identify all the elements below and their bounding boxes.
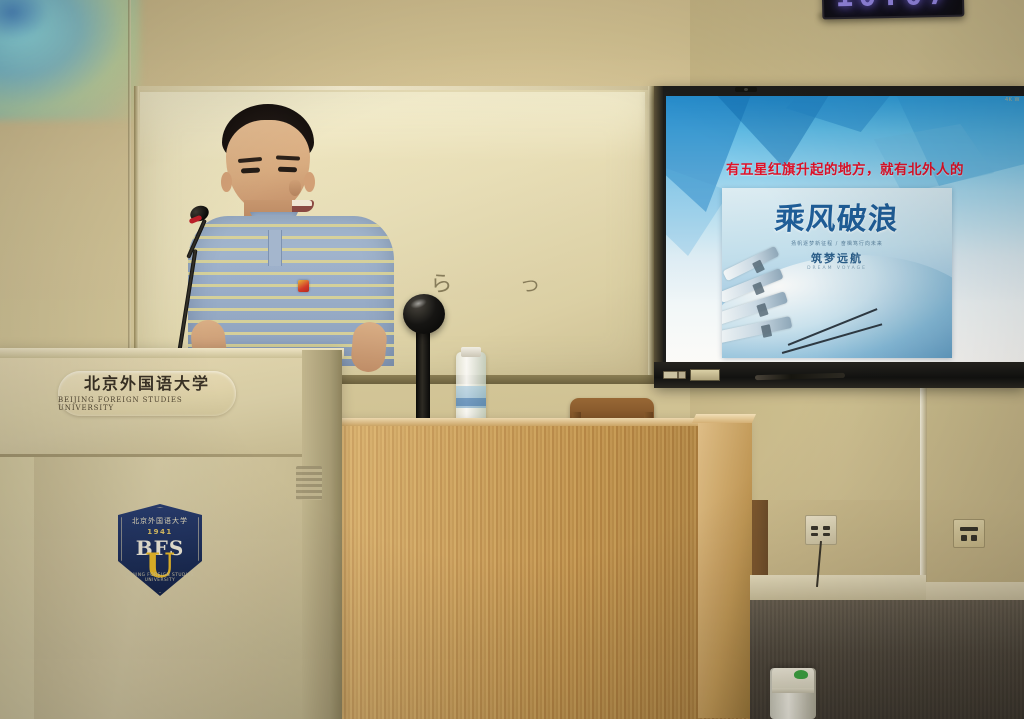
clock-time: 10:07 bbox=[824, 0, 963, 14]
poster-subtitle-en: DREAM VOYAGE bbox=[722, 266, 952, 271]
desk-side-panel bbox=[698, 418, 752, 718]
lapel-pin-icon bbox=[298, 280, 309, 292]
desk-shading bbox=[332, 422, 750, 719]
display-control-panel[interactable] bbox=[690, 369, 720, 381]
display-camera-lens-icon bbox=[744, 88, 748, 91]
podium-top-surface bbox=[0, 348, 344, 358]
whiteboard-mark: つ bbox=[520, 271, 541, 299]
polo-placket bbox=[268, 230, 282, 266]
desk-top-edge bbox=[332, 418, 750, 426]
poster-subtitle: 筑梦远航 bbox=[722, 250, 952, 266]
emblem-year: 1941 bbox=[118, 528, 202, 536]
projector-light-core bbox=[0, 0, 48, 40]
power-outlet bbox=[953, 519, 985, 548]
poster-tagline: 扬帆逐梦新征程 / 奋楫笃行向未来 bbox=[722, 240, 952, 247]
whiteboard-frame-top bbox=[136, 86, 654, 90]
slide-poster: 乘风破浪 扬帆逐梦新征程 / 奋楫笃行向未来 筑梦远航 DREAM VOYAGE bbox=[722, 188, 952, 358]
bottle-cap-green-mark bbox=[794, 670, 808, 679]
emblem-arc-text: BEIJING FOREIGN STUDIES UNIVERSITY bbox=[118, 573, 202, 583]
presentation-slide: 有五星红旗升起的地方，就有北外人的 乘风破浪 扬帆逐梦新征程 / 奋楫笃行向未 bbox=[666, 96, 1024, 362]
podium-plaque: 北京外国语大学 BEIJING FOREIGN STUDIES UNIVERSI… bbox=[58, 371, 236, 416]
display-corner-label: 4K W bbox=[1005, 97, 1020, 103]
speaker-face bbox=[226, 120, 310, 212]
foreground-bottle-cap bbox=[772, 668, 814, 690]
plaque-chinese-name: 北京外国语大学 bbox=[84, 376, 210, 392]
water-bottle-cap bbox=[461, 347, 481, 357]
emblem-chinese-name: 北京外国语大学 bbox=[118, 516, 202, 526]
usb-port-icon[interactable] bbox=[678, 371, 686, 379]
whiteboard-mark: ら bbox=[428, 265, 454, 300]
display-bezel-left bbox=[654, 86, 663, 386]
display-corner-text: 4K W bbox=[1005, 97, 1020, 103]
podium-vent bbox=[296, 466, 322, 500]
speaker bbox=[186, 104, 398, 366]
water-bottle-label-band bbox=[456, 398, 486, 406]
lecture-hall-photo: ら つ 有五星红旗升起的地方，就有北外人的 bbox=[0, 0, 1024, 719]
wall-digital-clock: 10:07 bbox=[822, 0, 965, 19]
whiteboard-frame-left bbox=[134, 86, 139, 382]
plaque-english-name: BEIJING FOREIGN STUDIES UNIVERSITY bbox=[58, 396, 236, 412]
poster-calligraphy: 乘风破浪 bbox=[722, 194, 952, 238]
desk-side-top-edge bbox=[692, 414, 756, 423]
podium-right-edge bbox=[302, 350, 342, 719]
display-screen[interactable]: 有五星红旗升起的地方，就有北外人的 乘风破浪 扬帆逐梦新征程 / 奋楫笃行向未 bbox=[666, 96, 1024, 362]
university-emblem: 北京外国语大学 1941 BFS U BEIJING FOREIGN STUDI… bbox=[118, 504, 202, 596]
baseboard bbox=[750, 575, 926, 601]
camera-stand-stem bbox=[416, 330, 430, 422]
usb-port-icon[interactable] bbox=[663, 371, 678, 379]
slide-headline: 有五星红旗升起的地方，就有北外人的 bbox=[666, 158, 1024, 178]
bottle-cap-ring bbox=[772, 688, 814, 693]
